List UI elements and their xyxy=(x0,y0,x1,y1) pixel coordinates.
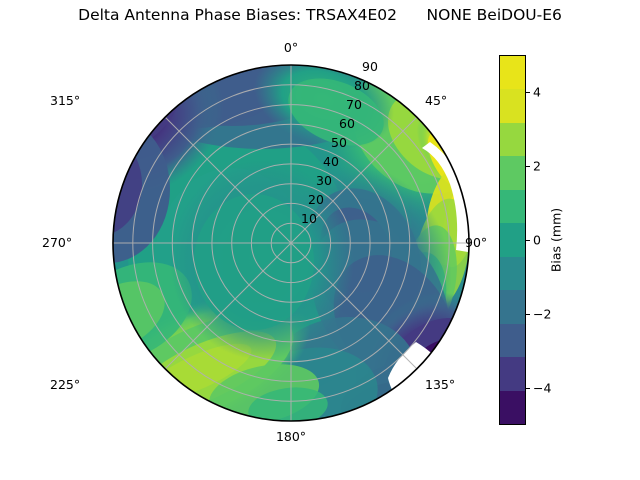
azimuth-tick-315: 315° xyxy=(50,93,80,108)
azimuth-tick-180: 180° xyxy=(276,429,306,444)
colorbar-band-9 xyxy=(500,89,525,122)
colorbar[interactable] xyxy=(499,55,526,425)
colorbar-label: Bias (mm) xyxy=(549,208,564,272)
radial-tick-60: 60 xyxy=(339,116,355,131)
azimuth-tick-135: 135° xyxy=(425,377,455,392)
azimuth-tick-45: 45° xyxy=(425,93,447,108)
radial-tick-80: 80 xyxy=(354,78,370,93)
polar-grid xyxy=(113,65,469,421)
colorbar-band-2 xyxy=(500,324,525,357)
colorbar-tick-label-4: 4 xyxy=(533,85,541,100)
radial-tick-20: 20 xyxy=(308,192,324,207)
radial-tick-90: 90 xyxy=(362,59,378,74)
colorbar-band-1 xyxy=(500,357,525,390)
azimuth-tick-270: 270° xyxy=(42,235,72,250)
colorbar-band-4 xyxy=(500,257,525,290)
colorbar-band-7 xyxy=(500,156,525,189)
radial-tick-30: 30 xyxy=(316,173,332,188)
colorbar-band-8 xyxy=(500,123,525,156)
colorbar-band-6 xyxy=(500,190,525,223)
colorbar-tick-line-4 xyxy=(526,92,530,93)
page-title: Delta Antenna Phase Biases: TRSAX4E02 NO… xyxy=(0,6,640,24)
radial-tick-50: 50 xyxy=(331,135,347,150)
colorbar-tick-line-3 xyxy=(526,166,530,167)
polar-axes[interactable]: 0° 45° 90° 135° 180° 225° 270° 315° 10 2… xyxy=(112,64,470,422)
figure-canvas: Delta Antenna Phase Biases: TRSAX4E02 NO… xyxy=(0,0,640,480)
radial-tick-70: 70 xyxy=(346,97,362,112)
colorbar-tick-label-3: 2 xyxy=(533,159,541,174)
radial-tick-10: 10 xyxy=(301,211,317,226)
azimuth-tick-90: 90° xyxy=(465,235,487,250)
colorbar-tick-label-0: −4 xyxy=(533,381,551,396)
colorbar-tick-label-2: 0 xyxy=(533,233,541,248)
colorbar-tick-label-1: −2 xyxy=(533,307,551,322)
colorbar-band-0 xyxy=(500,391,525,424)
colorbar-tick-line-0 xyxy=(526,388,530,389)
polar-contour-plot xyxy=(112,64,470,422)
azimuth-tick-0: 0° xyxy=(284,40,298,55)
colorbar-band-10 xyxy=(500,56,525,89)
azimuth-tick-225: 225° xyxy=(50,377,80,392)
colorbar-tick-line-2 xyxy=(526,240,530,241)
colorbar-band-5 xyxy=(500,223,525,256)
radial-tick-40: 40 xyxy=(323,154,339,169)
colorbar-tick-line-1 xyxy=(526,314,530,315)
colorbar-band-3 xyxy=(500,290,525,323)
